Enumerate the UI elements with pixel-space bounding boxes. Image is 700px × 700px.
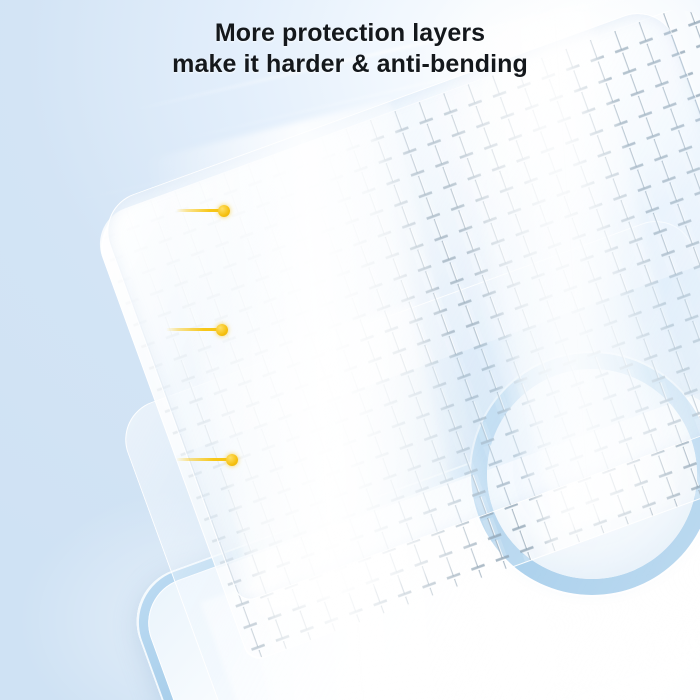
title-line-2: make it harder & anti-bending: [0, 49, 700, 80]
product-feature-graphic: More protection layers make it harder & …: [0, 0, 700, 700]
callout-nano-pc-leader-line: [176, 209, 224, 212]
callout-hidden-airbag-marker: [216, 324, 228, 336]
title-line-1: More protection layers: [215, 19, 485, 47]
callout-polymer-leader-line: [176, 458, 230, 461]
callout-polymer-marker: [226, 454, 238, 466]
callout-hidden-airbag-leader-line: [166, 328, 220, 331]
page-title: More protection layers make it harder & …: [0, 18, 700, 79]
callout-nano-pc-marker: [218, 205, 230, 217]
